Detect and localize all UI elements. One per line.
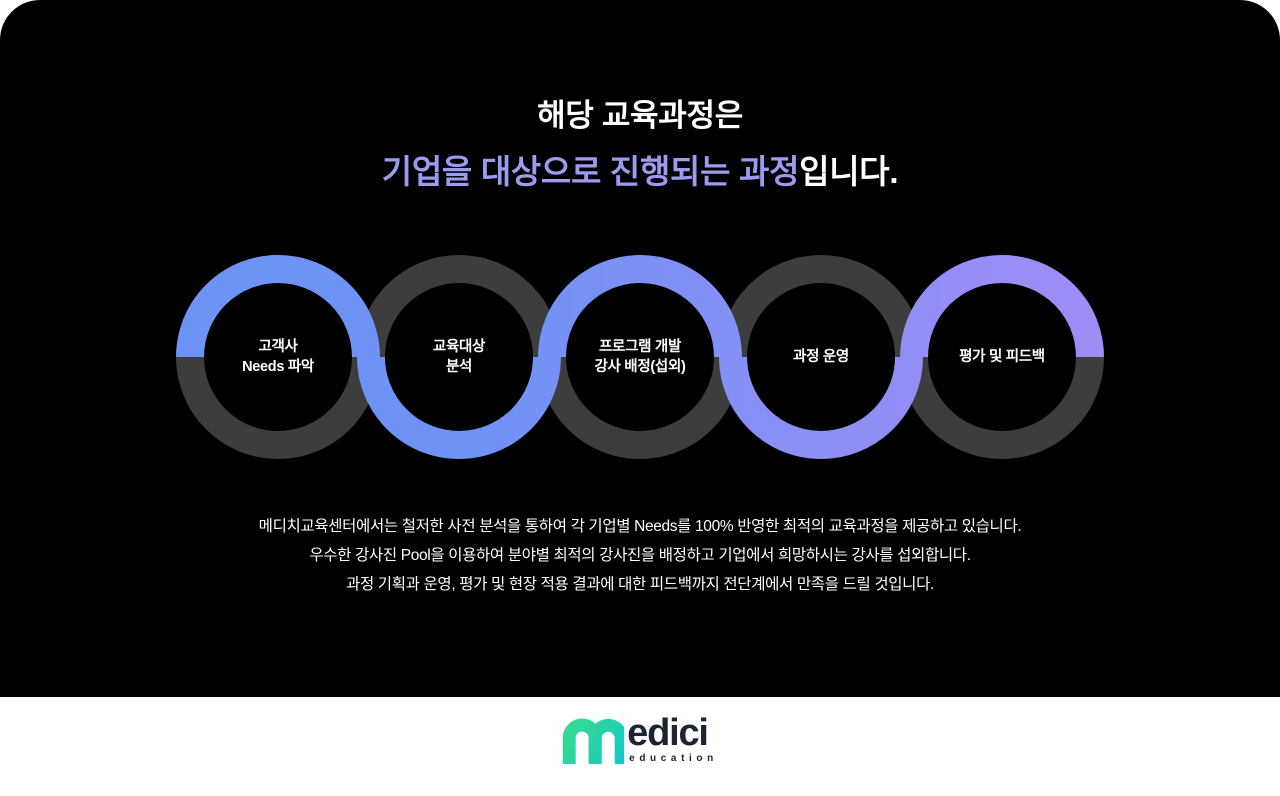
ring-arc-1	[190, 269, 366, 357]
process-chain-diagram: 고객사 Needs 파악 교육대상 분석 프로그램 개발 강사 배정(섭외) 과…	[0, 240, 1280, 480]
logo-subtitle: education	[629, 753, 718, 765]
ring-arc-3	[552, 269, 728, 357]
medici-wordmark: edici education	[627, 716, 718, 765]
headline-accent-text: 기업을 대상으로 진행되는 과정	[382, 153, 799, 190]
ring-arc-4	[733, 357, 909, 445]
medici-logo: edici education	[562, 716, 718, 765]
logo-word: edici	[627, 716, 708, 750]
chain-svg	[0, 240, 1280, 480]
page-title: 해당 교육과정은 기업을 대상으로 진행되는 과정입니다.	[0, 88, 1280, 200]
screenshot-root: 해당 교육과정은 기업을 대상으로 진행되는 과정입니다.	[0, 0, 1280, 796]
description-paragraph: 메디치교육센터에서는 철저한 사전 분석을 통하여 각 기업별 Needs를 1…	[0, 512, 1280, 599]
ring-arc-2	[371, 357, 547, 445]
description-line-2: 우수한 강사진 Pool을 이용하여 분야별 최적의 강사진을 배정하고 기업에…	[0, 541, 1280, 570]
headline-line-1: 해당 교육과정은	[0, 88, 1280, 144]
headline-tail-text: 입니다.	[799, 153, 898, 190]
ring-arc-5	[914, 269, 1090, 357]
description-line-1: 메디치교육센터에서는 철저한 사전 분석을 통하여 각 기업별 Needs를 1…	[0, 512, 1280, 541]
description-line-3: 과정 기획과 운영, 평가 및 현장 적용 결과에 대한 피드백까지 전단계에서…	[0, 570, 1280, 599]
content-panel: 해당 교육과정은 기업을 대상으로 진행되는 과정입니다.	[0, 0, 1280, 697]
m-stem-right	[617, 729, 621, 762]
headline-line-2: 기업을 대상으로 진행되는 과정입니다.	[0, 144, 1280, 200]
medici-m-mark-icon	[562, 718, 624, 764]
